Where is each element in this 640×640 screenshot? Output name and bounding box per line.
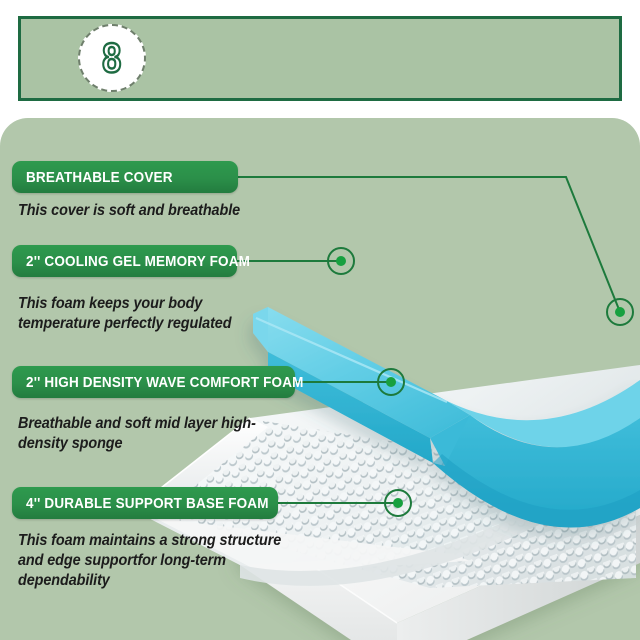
layer-label-durable-support-base-foam[interactable]: 4'' DURABLE SUPPORT BASE FOAM — [12, 487, 278, 519]
layer-label-text: 2'' HIGH DENSITY WAVE COMFORT FOAM — [26, 374, 304, 391]
infographic-canvas: 8 Memory Foam Mattress Memory Foam Mattr… — [0, 0, 640, 640]
layer-label-text: BREATHABLE COVER — [26, 169, 173, 186]
layer-description-breathable-cover: This cover is soft and breathable — [18, 201, 297, 221]
layer-description-durable-support-base-foam: This foam maintains a strong structure a… — [18, 531, 297, 591]
step-number-badge: 8 — [78, 24, 146, 92]
layer-label-cooling-gel-memory-foam[interactable]: 2'' COOLING GEL MEMORY FOAM — [12, 245, 237, 277]
callout-dot-breathable-cover — [607, 299, 633, 325]
layer-label-breathable-cover[interactable]: BREATHABLE COVER — [12, 161, 238, 193]
step-number: 8 — [102, 37, 121, 79]
layer-label-text: 2'' COOLING GEL MEMORY FOAM — [26, 253, 250, 270]
layer-label-high-density-wave-comfort-foam[interactable]: 2'' HIGH DENSITY WAVE COMFORT FOAM — [12, 366, 295, 398]
layer-description-cooling-gel-memory-foam: This foam keeps your body temperature pe… — [18, 294, 260, 334]
layer-label-text: 4'' DURABLE SUPPORT BASE FOAM — [26, 495, 269, 512]
layer-description-high-density-wave-comfort-foam: Breathable and soft mid layer high-densi… — [18, 414, 260, 454]
